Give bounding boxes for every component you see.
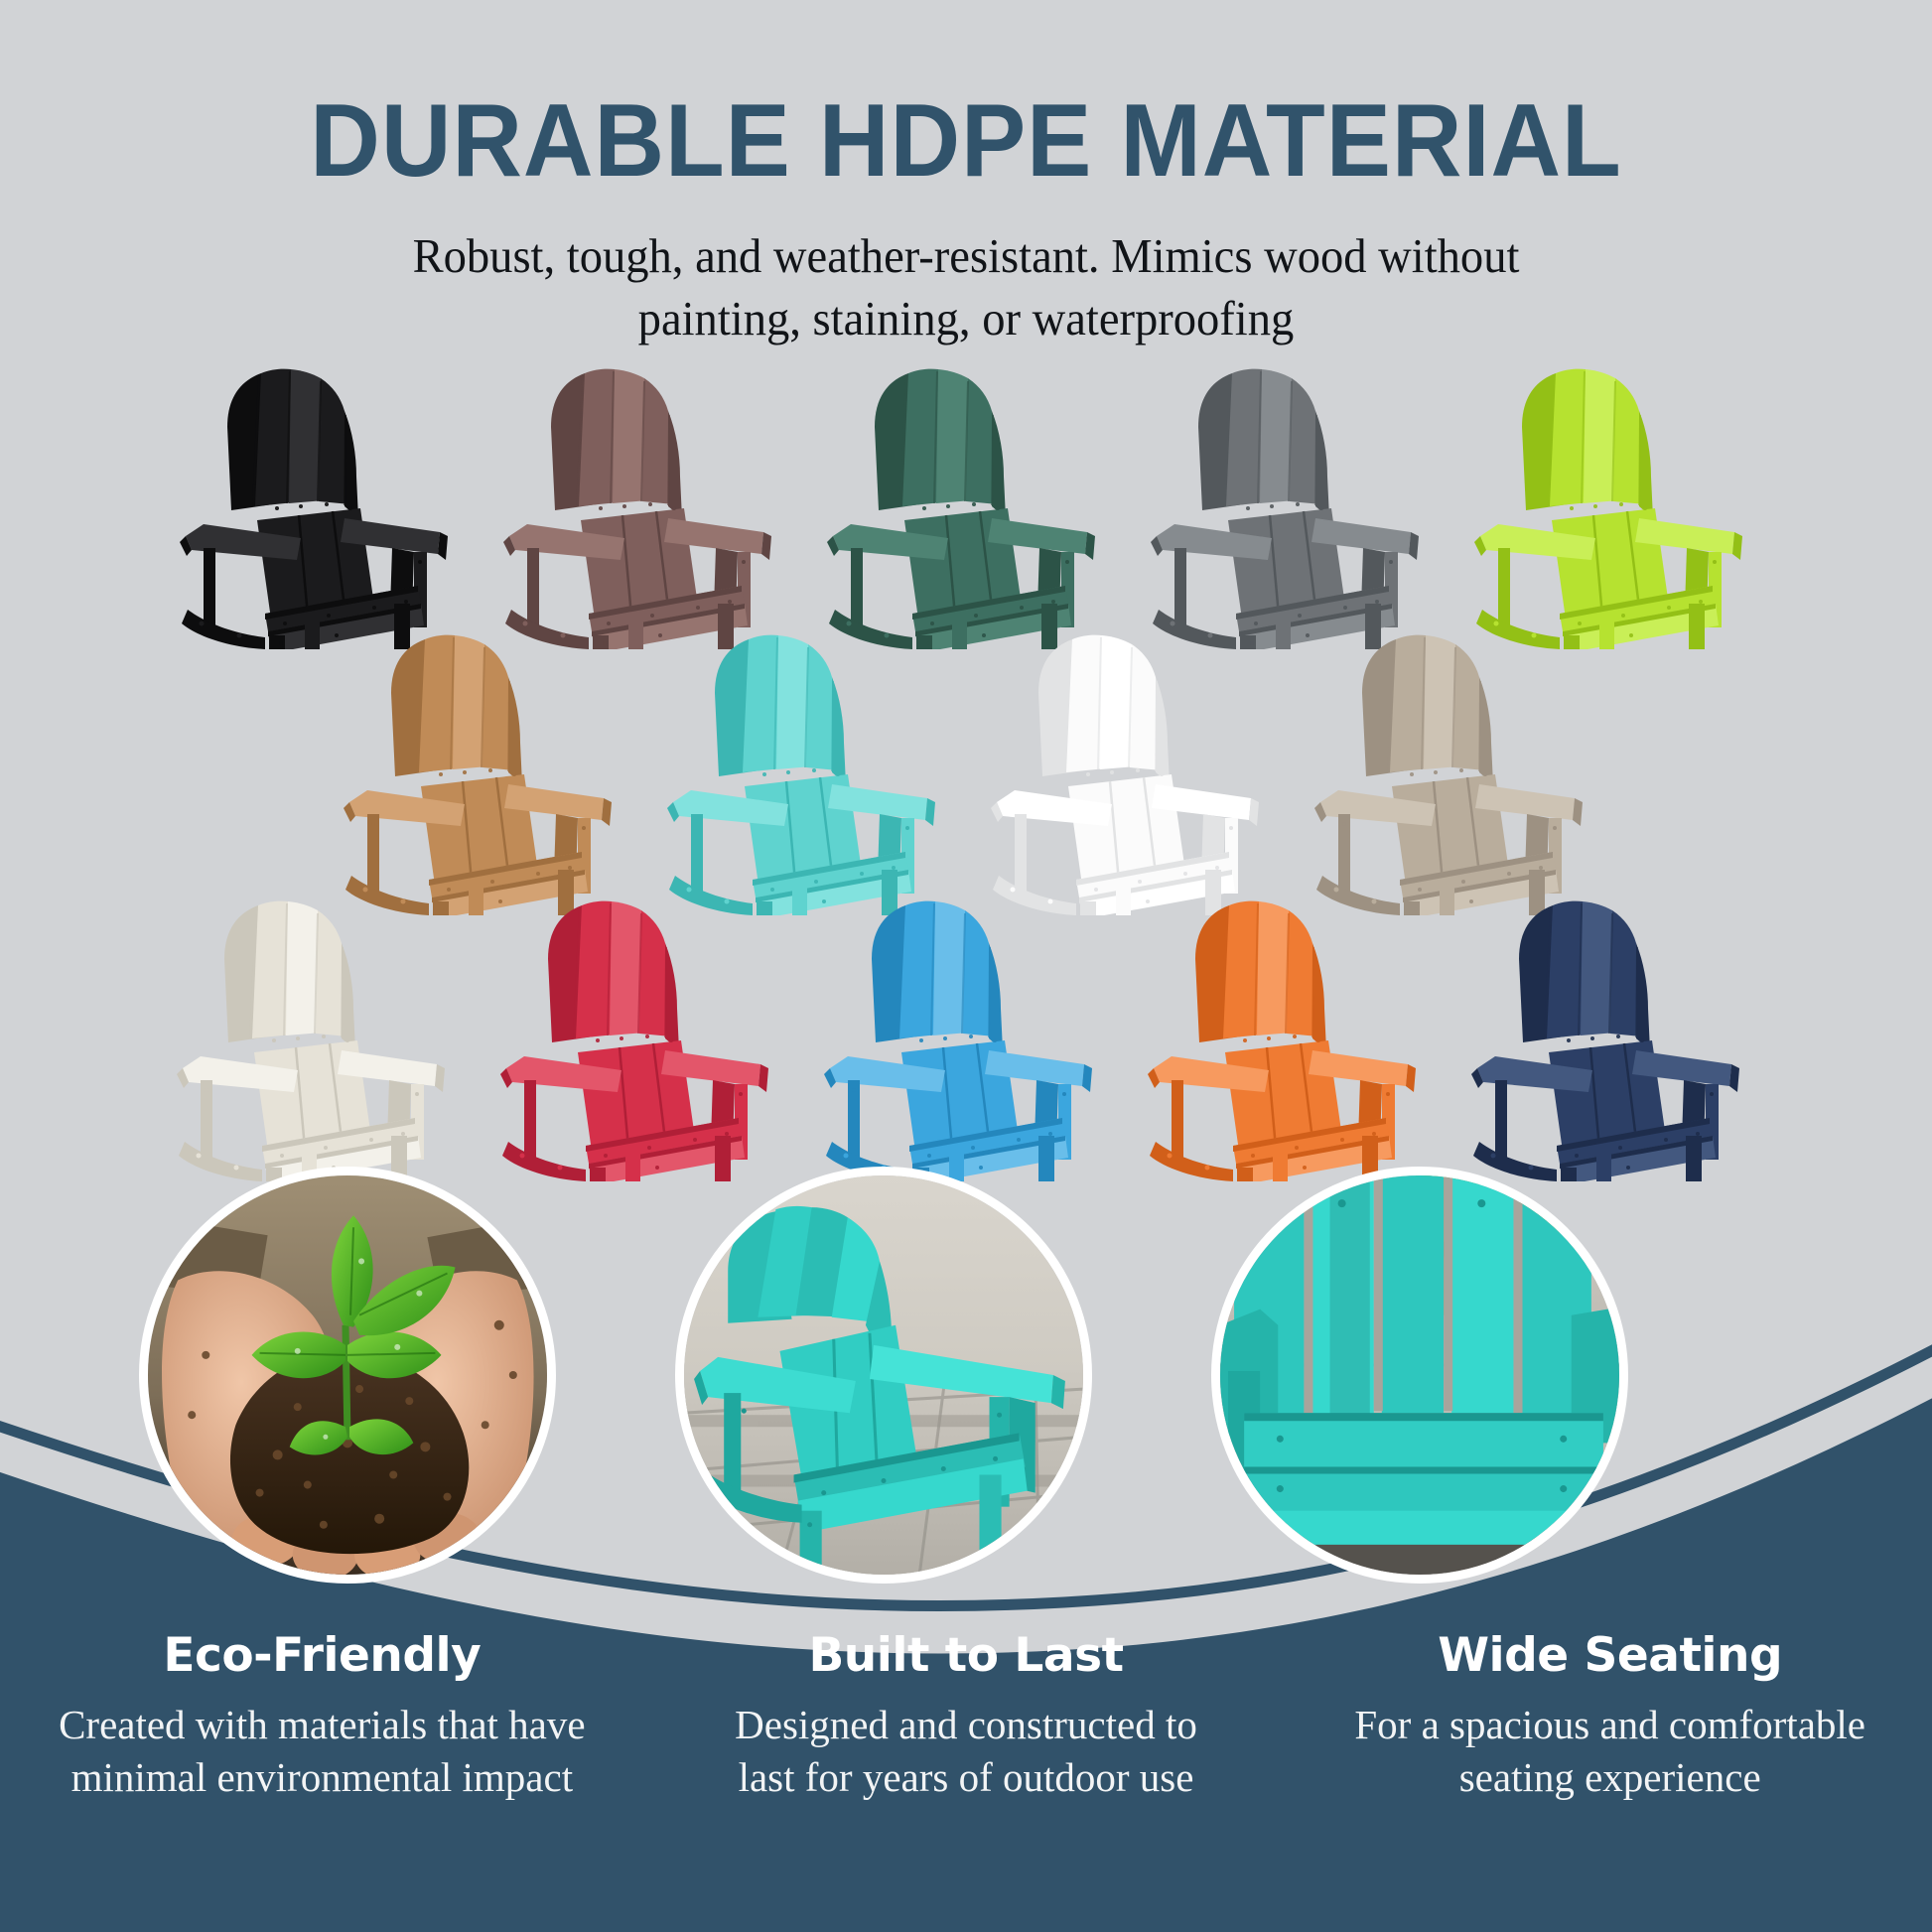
- infographic-canvas: DURABLE HDPE MATERIAL Robust, tough, and…: [0, 0, 1932, 1932]
- chair-back-slats: [551, 369, 682, 518]
- turquoise-chair-patio-photo: [684, 1175, 1083, 1575]
- feature-caption-built-to-last: Built to Last Designed and constructed t…: [644, 1628, 1289, 1805]
- adirondack-chair-illustration: [1141, 359, 1439, 649]
- chair-figure: [170, 359, 468, 649]
- chair-figure: [981, 625, 1279, 915]
- adirondack-chair-illustration: [657, 625, 955, 915]
- adirondack-chair-illustration: [493, 359, 791, 649]
- header: DURABLE HDPE MATERIAL Robust, tough, and…: [0, 0, 1932, 350]
- chair-figure: [167, 892, 465, 1181]
- chair-swatch-orange[interactable]: [1138, 892, 1436, 1181]
- chair-figure: [1464, 359, 1762, 649]
- feature-caption-eco-friendly: Eco-Friendly Created with materials that…: [0, 1628, 644, 1805]
- feature-desc-line-1: Designed and constructed to: [674, 1699, 1259, 1751]
- subtitle-line-1: Robust, tough, and weather-resistant. Mi…: [49, 225, 1884, 288]
- chair-swatch-lime-green[interactable]: [1464, 359, 1762, 649]
- chair-back-slats: [1038, 635, 1170, 784]
- feature-desc-line-2: seating experience: [1317, 1751, 1902, 1804]
- feature-photo-eco-friendly: [139, 1167, 556, 1584]
- feature-desc-line-1: For a spacious and comfortable: [1317, 1699, 1902, 1751]
- chair-back-slats: [872, 901, 1003, 1050]
- chair-swatch-teak[interactable]: [334, 625, 631, 915]
- feature-captions: Eco-Friendly Created with materials that…: [0, 1628, 1932, 1805]
- hands-soil-plant-photo: [148, 1175, 547, 1575]
- feature-photo-wide-seating: [1211, 1167, 1628, 1584]
- chair-row-1: [0, 359, 1932, 649]
- chair-figure: [1141, 359, 1439, 649]
- feature-desc-line-2: last for years of outdoor use: [674, 1751, 1259, 1804]
- chair-figure: [817, 359, 1115, 649]
- chair-back-slats: [1198, 369, 1329, 518]
- chair-back-slats: [1195, 901, 1326, 1050]
- chair-swatch-black[interactable]: [170, 359, 468, 649]
- adirondack-chair-illustration: [490, 892, 788, 1181]
- subtitle-line-2: painting, staining, or waterproofing: [49, 288, 1884, 350]
- page-subtitle: Robust, tough, and weather-resistant. Mi…: [49, 196, 1884, 349]
- adirondack-chair-illustration: [981, 625, 1279, 915]
- chair-swatch-khaki[interactable]: [1305, 625, 1602, 915]
- chair-swatch-turquoise[interactable]: [657, 625, 955, 915]
- chair-swatch-ivory[interactable]: [167, 892, 465, 1181]
- page-title: DURABLE HDPE MATERIAL: [58, 0, 1873, 196]
- chair-swatch-light-blue[interactable]: [814, 892, 1112, 1181]
- feature-description: For a spacious and comfortable seating e…: [1317, 1699, 1902, 1805]
- chair-back-slats: [1519, 901, 1650, 1050]
- chair-figure: [493, 359, 791, 649]
- chair-back-slats: [227, 369, 358, 518]
- chair-figure: [1138, 892, 1436, 1181]
- feature-desc-line-2: minimal environmental impact: [30, 1751, 615, 1804]
- chair-swatch-navy-blue[interactable]: [1461, 892, 1759, 1181]
- feature-description: Designed and constructed to last for yea…: [674, 1699, 1259, 1805]
- feature-photo-circles: [0, 1167, 1932, 1584]
- adirondack-chair-illustration: [170, 359, 468, 649]
- chair-back-slats: [391, 635, 522, 784]
- chair-back-slats: [548, 901, 679, 1050]
- chair-figure: [1461, 892, 1759, 1181]
- adirondack-chair-illustration: [1138, 892, 1436, 1181]
- chair-back-slats: [715, 635, 846, 784]
- feature-caption-wide-seating: Wide Seating For a spacious and comforta…: [1288, 1628, 1932, 1805]
- chair-back-slats: [224, 901, 355, 1050]
- chair-swatch-red[interactable]: [490, 892, 788, 1181]
- chair-color-grid: [0, 359, 1932, 1181]
- chair-folding-foot: [182, 610, 265, 649]
- chair-figure: [814, 892, 1112, 1181]
- chair-figure: [657, 625, 955, 915]
- adirondack-chair-illustration: [817, 359, 1115, 649]
- chair-row-2: [4, 625, 1932, 915]
- chair-back-slats: [1522, 369, 1653, 518]
- chair-swatch-brown[interactable]: [493, 359, 791, 649]
- adirondack-chair-illustration: [1305, 625, 1602, 915]
- adirondack-chair-illustration: [334, 625, 631, 915]
- feature-description: Created with materials that have minimal…: [30, 1699, 615, 1805]
- adirondack-chair-illustration: [1461, 892, 1759, 1181]
- chair-figure: [490, 892, 788, 1181]
- chair-swatch-dark-green[interactable]: [817, 359, 1115, 649]
- chair-figure: [1305, 625, 1602, 915]
- feature-heading: Built to Last: [674, 1628, 1259, 1683]
- chair-back-slats: [875, 369, 1006, 518]
- feature-desc-line-1: Created with materials that have: [30, 1699, 615, 1751]
- adirondack-chair-illustration: [167, 892, 465, 1181]
- feature-heading: Eco-Friendly: [30, 1628, 615, 1683]
- chair-wide-seat-closeup-photo: [1220, 1175, 1619, 1575]
- adirondack-chair-illustration: [814, 892, 1112, 1181]
- feature-heading: Wide Seating: [1317, 1628, 1902, 1683]
- chair-swatch-white[interactable]: [981, 625, 1279, 915]
- adirondack-chair-illustration: [1464, 359, 1762, 649]
- feature-photo-built-to-last: [675, 1167, 1092, 1584]
- chair-row-3: [0, 892, 1932, 1181]
- chair-figure: [334, 625, 631, 915]
- chair-swatch-gray[interactable]: [1141, 359, 1439, 649]
- chair-back-slats: [1362, 635, 1493, 784]
